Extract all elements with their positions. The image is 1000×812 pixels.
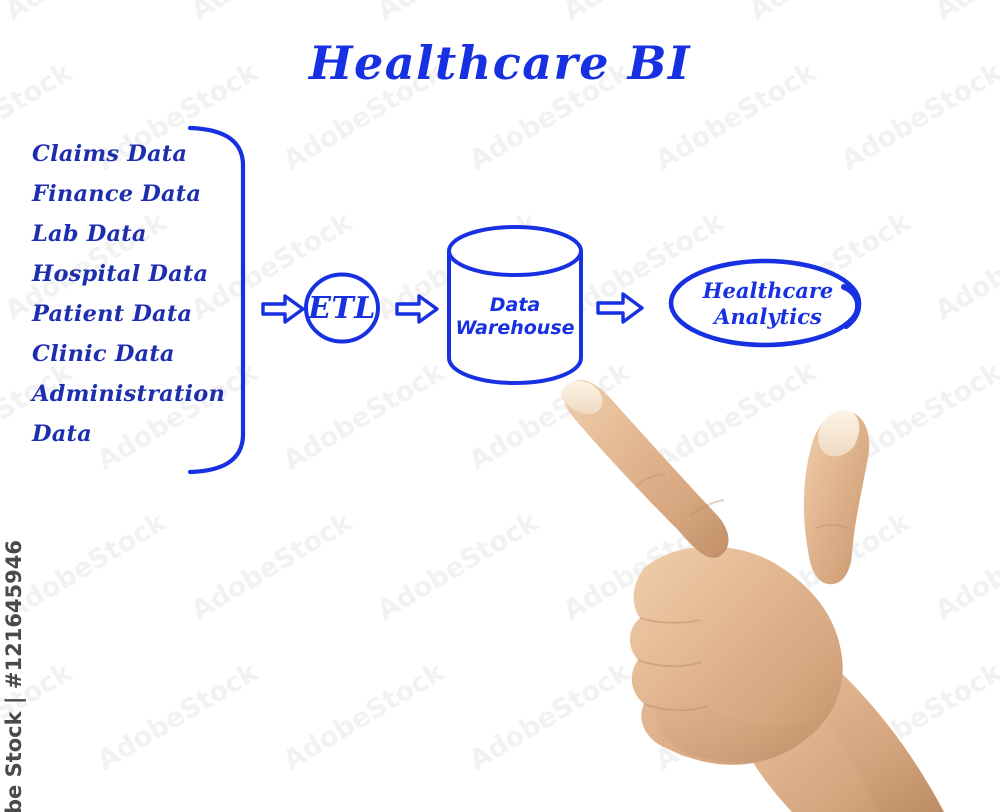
hollow-right-arrow-icon	[596, 291, 644, 325]
warehouse-label-line1: Data	[449, 294, 581, 317]
hollow-right-arrow-icon	[395, 293, 439, 325]
healthcare-analytics-label: Healthcare Analytics	[678, 278, 858, 330]
stock-id-watermark: Adobe Stock | #121645946	[2, 540, 26, 812]
analytics-label-line1: Healthcare	[678, 278, 858, 304]
etl-node: ETL	[303, 272, 381, 344]
data-warehouse-node: Data Warehouse	[441, 222, 589, 387]
page-title: Healthcare BI	[0, 36, 1000, 90]
hollow-right-arrow-icon	[261, 293, 305, 325]
warehouse-label-line2: Warehouse	[449, 317, 581, 340]
diagram-canvas: AdobeStockAdobeStockAdobeStockAdobeStock…	[0, 0, 1000, 812]
curly-bracket-right-icon	[186, 124, 252, 476]
healthcare-analytics-node: Healthcare Analytics	[666, 256, 870, 352]
pointing-hand-icon	[540, 378, 1000, 812]
etl-label: ETL	[303, 272, 381, 344]
analytics-label-line2: Analytics	[678, 304, 858, 330]
data-warehouse-label: Data Warehouse	[449, 294, 581, 340]
